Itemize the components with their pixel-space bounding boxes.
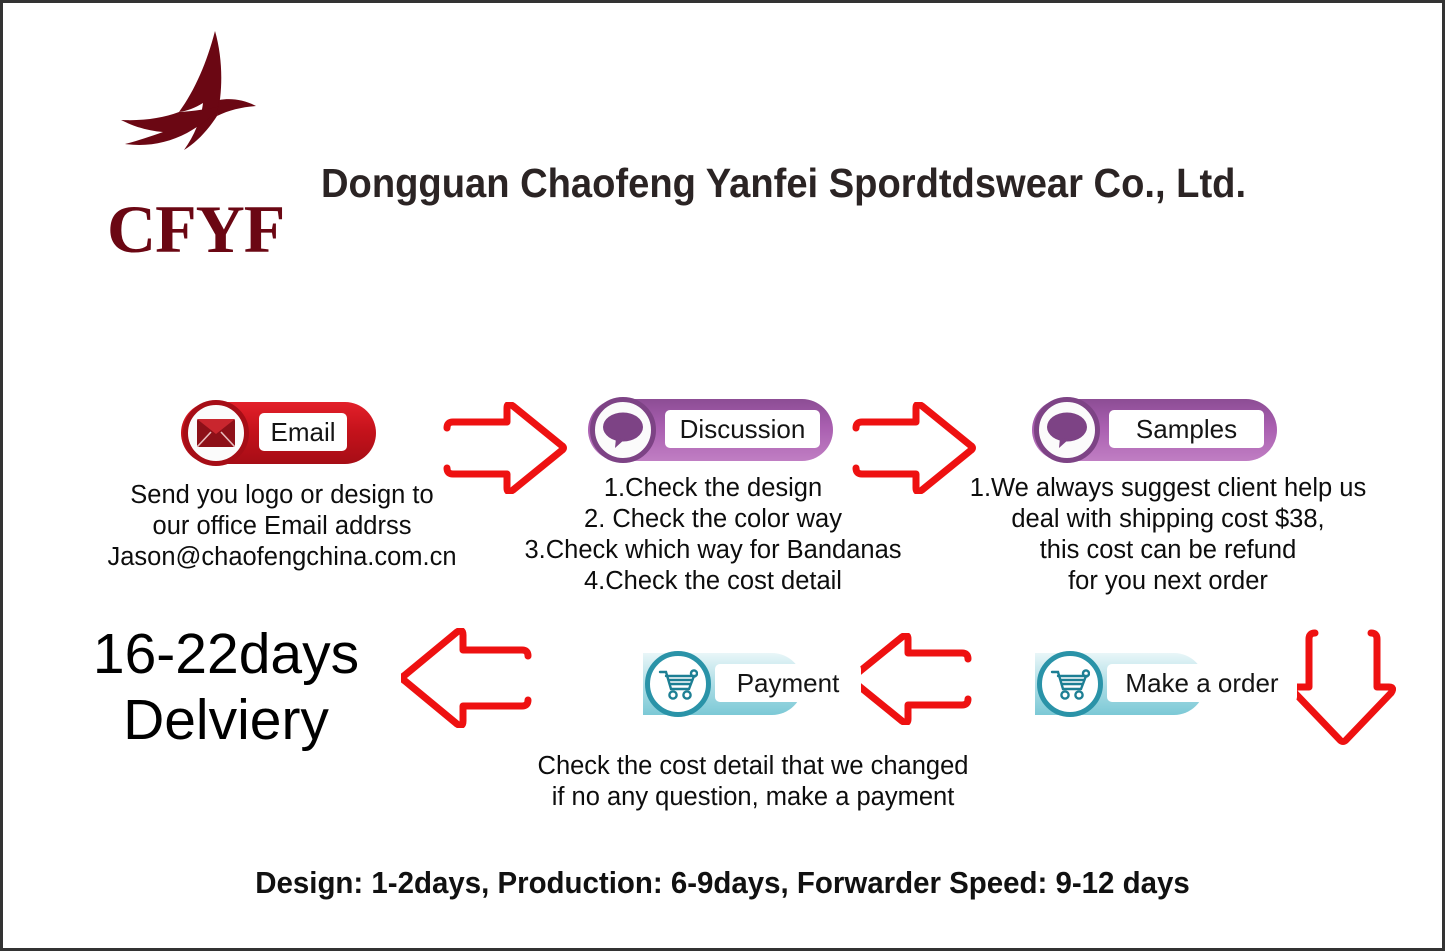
envelope-icon	[183, 400, 249, 466]
swallow-bird-logo-icon	[111, 28, 281, 193]
step-badge-samples[interactable]: Samples	[1032, 399, 1277, 461]
step-description-samples: 1.We always suggest client help us deal …	[953, 473, 1383, 597]
step-badge-email[interactable]: Email	[181, 402, 376, 464]
arrow-make-a-order-to-payment	[851, 633, 976, 725]
badge-label-discussion: Discussion	[665, 410, 820, 448]
delivery-duration-text: 16-22days Delviery	[41, 621, 411, 753]
arrow-discussion-to-samples	[848, 402, 978, 494]
badge-label-payment: Payment	[715, 664, 861, 702]
badge-label-email: Email	[259, 413, 347, 451]
badge-label-make-a-order: Make a order	[1107, 664, 1297, 702]
shopping-cart-icon	[645, 651, 711, 717]
company-title: Dongguan Chaofeng Yanfei Spordtdswear Co…	[321, 159, 1246, 207]
logo-wordmark: CFYF	[107, 195, 284, 263]
footer-timeline-note: Design: 1-2days, Production: 6-9days, Fo…	[39, 865, 1406, 901]
step-description-discussion: 1.Check the design 2. Check the color wa…	[523, 473, 903, 597]
speech-bubble-icon	[590, 397, 656, 463]
arrow-samples-to-make-a-order	[1291, 625, 1396, 745]
badge-label-samples: Samples	[1109, 410, 1264, 448]
step-badge-discussion[interactable]: Discussion	[588, 399, 833, 461]
step-description-email: Send you logo or design to our office Em…	[87, 480, 477, 573]
shopping-cart-icon	[1037, 651, 1103, 717]
arrow-email-to-discussion	[439, 402, 569, 494]
infographic-page: CFYF Dongguan Chaofeng Yanfei Spordtdswe…	[0, 0, 1445, 951]
arrow-payment-to-delivery	[401, 628, 536, 728]
step-description-payment: Check the cost detail that we changed if…	[498, 751, 1008, 813]
speech-bubble-icon	[1034, 397, 1100, 463]
step-badge-payment[interactable]: Payment	[643, 653, 803, 715]
step-badge-make-a-order[interactable]: Make a order	[1035, 653, 1205, 715]
